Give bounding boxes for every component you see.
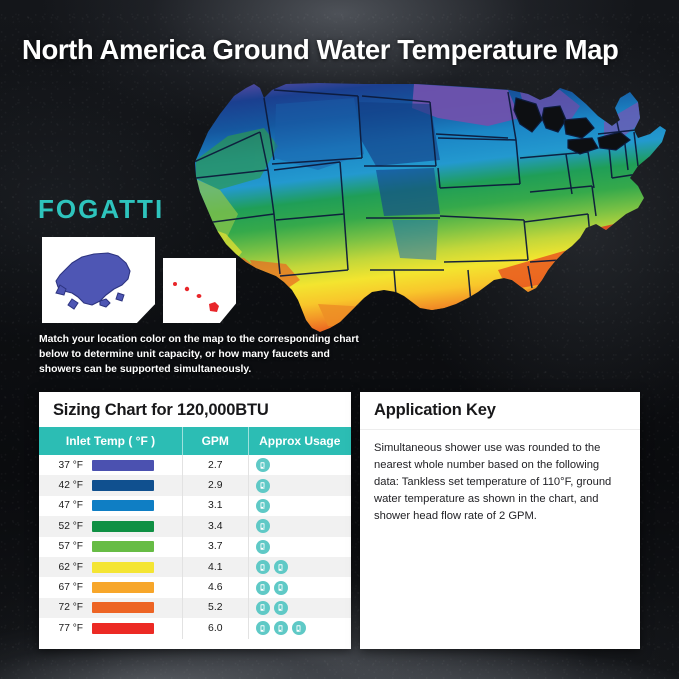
cell-gpm: 2.7 (183, 455, 249, 475)
temperature-color-swatch (92, 460, 154, 471)
inlet-temp-value: 37 °F (49, 460, 83, 471)
sizing-chart-table: Inlet Temp ( °F ) GPM Approx Usage 37 °F… (39, 427, 351, 639)
shower-icon (256, 601, 270, 615)
cell-inlet-temp: 72 °F (39, 598, 183, 618)
cell-gpm: 6.0 (183, 618, 249, 638)
table-row: 47 °F3.1 (39, 496, 351, 516)
inlet-temp-value: 72 °F (49, 602, 83, 613)
cell-gpm: 3.7 (183, 537, 249, 557)
sizing-chart-card: Sizing Chart for 120,000BTU Inlet Temp (… (39, 392, 351, 649)
inlet-temp-value: 47 °F (49, 500, 83, 511)
shower-icon (292, 621, 306, 635)
cell-inlet-temp: 52 °F (39, 516, 183, 536)
table-row: 67 °F4.6 (39, 577, 351, 597)
cell-gpm: 5.2 (183, 598, 249, 618)
shower-icon (256, 499, 270, 513)
inlet-temp-value: 52 °F (49, 521, 83, 532)
cell-gpm: 4.6 (183, 577, 249, 597)
shower-icon (256, 621, 270, 635)
table-row: 37 °F2.7 (39, 455, 351, 475)
shower-icon (274, 581, 288, 595)
sizing-chart-body: 37 °F2.742 °F2.947 °F3.152 °F3.457 °F3.7… (39, 455, 351, 639)
page-title: North America Ground Water Temperature M… (22, 34, 667, 66)
column-header-inlet-temp: Inlet Temp ( °F ) (39, 427, 183, 455)
inlet-temp-value: 57 °F (49, 541, 83, 552)
shower-icon (256, 458, 270, 472)
cell-inlet-temp: 57 °F (39, 537, 183, 557)
cell-inlet-temp: 47 °F (39, 496, 183, 516)
map-landmass (168, 74, 673, 339)
cell-gpm: 3.1 (183, 496, 249, 516)
temperature-color-swatch (92, 500, 154, 511)
inlet-temp-value: 42 °F (49, 480, 83, 491)
cell-approx-usage (248, 516, 351, 536)
sizing-chart-title: Sizing Chart for 120,000BTU (39, 392, 351, 427)
application-key-title: Application Key (360, 392, 640, 430)
shower-icon (274, 601, 288, 615)
table-header-row: Inlet Temp ( °F ) GPM Approx Usage (39, 427, 351, 455)
cell-approx-usage (248, 577, 351, 597)
hawaii-inset (163, 258, 236, 323)
shower-icon (256, 540, 270, 554)
cell-inlet-temp: 62 °F (39, 557, 183, 577)
cell-approx-usage (248, 455, 351, 475)
cell-approx-usage (248, 537, 351, 557)
cell-approx-usage (248, 557, 351, 577)
application-key-card: Application Key Simultaneous shower use … (360, 392, 640, 649)
cell-inlet-temp: 77 °F (39, 618, 183, 638)
brand-logo: FOGATTI (38, 194, 164, 225)
table-row: 52 °F3.4 (39, 516, 351, 536)
alaska-inset (42, 237, 155, 323)
temperature-color-swatch (92, 562, 154, 573)
cell-approx-usage (248, 598, 351, 618)
cell-gpm: 3.4 (183, 516, 249, 536)
table-row: 77 °F6.0 (39, 618, 351, 638)
cell-approx-usage (248, 496, 351, 516)
column-header-gpm: GPM (183, 427, 249, 455)
cell-inlet-temp: 42 °F (39, 475, 183, 495)
temperature-color-swatch (92, 541, 154, 552)
temperature-color-swatch (92, 582, 154, 593)
cell-gpm: 4.1 (183, 557, 249, 577)
application-key-body: Simultaneous shower use was rounded to t… (360, 430, 640, 525)
cell-inlet-temp: 37 °F (39, 455, 183, 475)
table-row: 62 °F4.1 (39, 557, 351, 577)
table-row: 42 °F2.9 (39, 475, 351, 495)
table-row: 57 °F3.7 (39, 537, 351, 557)
shower-icon (274, 621, 288, 635)
shower-icon (256, 519, 270, 533)
cell-approx-usage (248, 475, 351, 495)
temperature-color-swatch (92, 521, 154, 532)
map-container (168, 74, 673, 339)
inlet-temp-value: 62 °F (49, 562, 83, 573)
cell-inlet-temp: 67 °F (39, 577, 183, 597)
column-header-approx-usage: Approx Usage (248, 427, 351, 455)
shower-icon (256, 479, 270, 493)
shower-icon (256, 581, 270, 595)
cell-approx-usage (248, 618, 351, 638)
shower-icon (256, 560, 270, 574)
temperature-color-swatch (92, 602, 154, 613)
temperature-color-swatch (92, 480, 154, 491)
cell-gpm: 2.9 (183, 475, 249, 495)
inlet-temp-value: 67 °F (49, 582, 83, 593)
temperature-color-swatch (92, 623, 154, 634)
instructions-text: Match your location color on the map to … (39, 333, 369, 378)
table-row: 72 °F5.2 (39, 598, 351, 618)
inlet-temp-value: 77 °F (49, 623, 83, 634)
shower-icon (274, 560, 288, 574)
